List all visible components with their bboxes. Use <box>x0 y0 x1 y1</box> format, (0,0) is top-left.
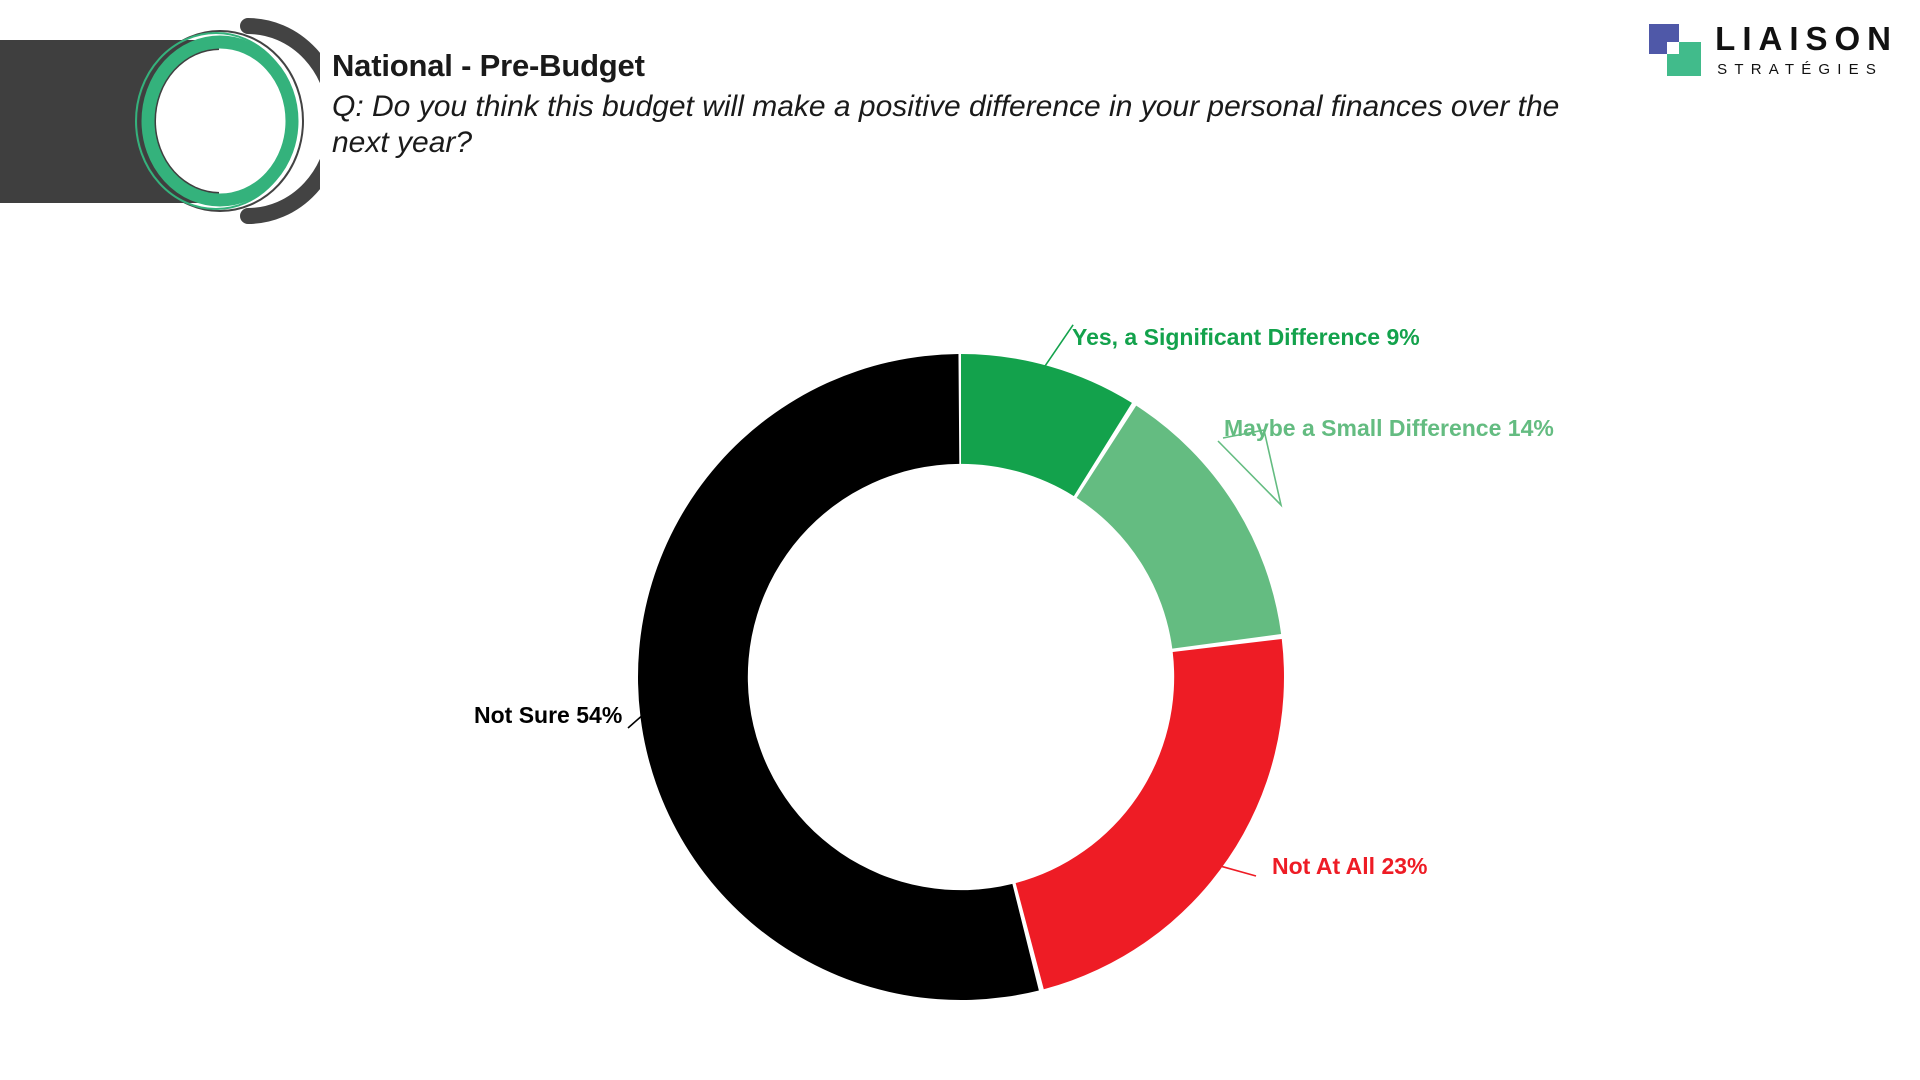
slice-label-maybe-small: Maybe a Small Difference 14% <box>1224 415 1554 442</box>
donut-chart: Yes, a Significant Difference 9% Maybe a… <box>0 0 1920 1080</box>
slice-label-not-at-all: Not At All 23% <box>1272 853 1427 880</box>
slice-label-yes-significant: Yes, a Significant Difference 9% <box>1072 324 1420 351</box>
donut-slice-group <box>638 354 1284 1000</box>
leader-line-not-at-all <box>1222 867 1256 876</box>
donut-chart-svg <box>0 0 1920 1080</box>
donut-slice <box>1016 639 1284 989</box>
slice-label-not-sure: Not Sure 54% <box>474 702 622 729</box>
leader-line-yes-significant <box>1043 325 1073 369</box>
